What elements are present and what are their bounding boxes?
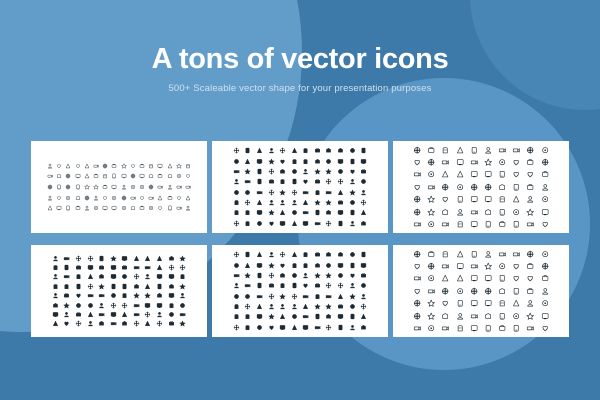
bag-icon[interactable]	[75, 255, 82, 262]
frame-icon[interactable]	[325, 272, 332, 279]
egg-icon[interactable]	[268, 313, 275, 320]
clock-alt-icon[interactable]	[130, 195, 136, 201]
gift-icon[interactable]	[349, 282, 356, 289]
paint-icon[interactable]	[325, 282, 332, 289]
music-icon[interactable]	[244, 262, 251, 269]
mail-icon[interactable]	[325, 313, 332, 320]
screen-icon[interactable]	[233, 220, 240, 227]
battery-icon[interactable]	[484, 195, 492, 203]
scanner-icon[interactable]	[427, 170, 435, 178]
person-icon[interactable]	[156, 264, 163, 271]
truck-icon[interactable]	[75, 273, 82, 280]
volume-down-icon[interactable]	[427, 195, 435, 203]
card-reader-icon[interactable]	[498, 208, 506, 216]
cloud-alt-icon[interactable]	[52, 320, 59, 327]
satellite-icon[interactable]	[427, 312, 435, 320]
pen-icon[interactable]	[427, 250, 435, 258]
camcorder-icon[interactable]	[470, 287, 478, 295]
briefcase-icon[interactable]	[56, 195, 62, 201]
wifi-icon[interactable]	[133, 255, 140, 262]
cap-icon[interactable]	[185, 184, 191, 190]
battery-icon[interactable]	[139, 173, 145, 179]
shield-icon[interactable]	[337, 303, 344, 310]
pin-icon[interactable]	[314, 178, 321, 185]
volume-up-icon[interactable]	[413, 195, 421, 203]
volume-up-icon[interactable]	[413, 299, 421, 307]
sofa-icon[interactable]	[337, 158, 344, 165]
printer-icon[interactable]	[233, 178, 240, 185]
cloud-alt-icon[interactable]	[47, 205, 53, 211]
window-icon[interactable]	[63, 264, 70, 271]
signal-icon[interactable]	[441, 195, 449, 203]
map-icon[interactable]	[167, 205, 173, 211]
scale-icon[interactable]	[102, 195, 108, 201]
monitor-alt-icon[interactable]	[470, 158, 478, 166]
bag-icon[interactable]	[279, 251, 286, 258]
disc-icon[interactable]	[168, 302, 175, 309]
glasses-icon[interactable]	[179, 264, 186, 271]
package-icon[interactable]	[349, 199, 356, 206]
pencil-icon[interactable]	[291, 220, 298, 227]
weight-icon[interactable]	[111, 195, 117, 201]
pot-icon[interactable]	[233, 313, 240, 320]
trophy-icon[interactable]	[47, 163, 53, 169]
cloud-icon[interactable]	[360, 158, 367, 165]
tablet-icon[interactable]	[133, 302, 140, 309]
plate-icon[interactable]	[337, 168, 344, 175]
glass-icon[interactable]	[291, 168, 298, 175]
cassette-icon[interactable]	[498, 170, 506, 178]
cross-icon[interactable]	[314, 313, 321, 320]
icon-panel-bottom-left[interactable]	[31, 245, 207, 337]
moon-icon[interactable]	[256, 199, 263, 206]
dash-icon[interactable]	[291, 313, 298, 320]
monitor-alt-icon[interactable]	[470, 262, 478, 270]
globe-icon[interactable]	[56, 173, 62, 179]
calculator-icon[interactable]	[244, 293, 251, 300]
shuffle-icon[interactable]	[111, 205, 117, 211]
award-icon[interactable]	[157, 163, 163, 169]
link-icon[interactable]	[168, 311, 175, 318]
antenna-alt-icon[interactable]	[441, 208, 449, 216]
leaf-icon[interactable]	[93, 163, 99, 169]
badge-icon[interactable]	[314, 147, 321, 154]
bird-icon[interactable]	[176, 163, 182, 169]
search-icon[interactable]	[279, 158, 286, 165]
thermometer-icon[interactable]	[156, 320, 163, 327]
phone-icon[interactable]	[498, 146, 506, 154]
flag-icon[interactable]	[360, 303, 367, 310]
router-icon[interactable]	[526, 158, 534, 166]
layers-icon[interactable]	[337, 220, 344, 227]
dish-icon[interactable]	[456, 312, 464, 320]
tool-icon[interactable]	[233, 262, 240, 269]
calculator-alt-icon[interactable]	[526, 220, 534, 228]
wheel-alt-icon[interactable]	[144, 292, 151, 299]
circle-icon[interactable]	[291, 199, 298, 206]
plant-alt-icon[interactable]	[168, 320, 175, 327]
tv-icon[interactable]	[441, 220, 449, 228]
dial-icon[interactable]	[512, 324, 520, 332]
clock-icon[interactable]	[441, 287, 449, 295]
grid-icon[interactable]	[98, 302, 105, 309]
book-icon[interactable]	[291, 251, 298, 258]
gear-icon[interactable]	[167, 173, 173, 179]
monitor-icon[interactable]	[179, 302, 186, 309]
keyboard-icon[interactable]	[456, 146, 464, 154]
signal-icon[interactable]	[441, 299, 449, 307]
hammer-icon[interactable]	[349, 168, 356, 175]
favorite-icon[interactable]	[121, 184, 127, 190]
lock-icon[interactable]	[144, 302, 151, 309]
settings-icon[interactable]	[102, 184, 108, 190]
badge-icon[interactable]	[314, 251, 321, 258]
arch-icon[interactable]	[176, 184, 182, 190]
tool-icon[interactable]	[75, 302, 82, 309]
cloud-icon[interactable]	[111, 184, 117, 190]
floppy-icon[interactable]	[512, 274, 520, 282]
brush-icon[interactable]	[47, 173, 53, 179]
bell-icon[interactable]	[244, 209, 251, 216]
down-icon[interactable]	[244, 303, 251, 310]
sync-icon[interactable]	[268, 158, 275, 165]
keyboard-icon[interactable]	[360, 313, 367, 320]
pen-icon[interactable]	[427, 146, 435, 154]
door-icon[interactable]	[314, 324, 321, 331]
medical-icon[interactable]	[302, 199, 309, 206]
balloon-icon[interactable]	[75, 264, 82, 271]
refresh-icon[interactable]	[256, 251, 263, 258]
chip-icon[interactable]	[526, 170, 534, 178]
plug-icon[interactable]	[302, 282, 309, 289]
brush-icon[interactable]	[302, 293, 309, 300]
pill-icon[interactable]	[325, 199, 332, 206]
shell-icon[interactable]	[87, 320, 94, 327]
clock-icon[interactable]	[130, 173, 136, 179]
bird-icon[interactable]	[244, 272, 251, 279]
hand-icon[interactable]	[63, 283, 70, 290]
volume-low-icon[interactable]	[526, 183, 534, 191]
monitor-icon[interactable]	[541, 250, 549, 258]
power-icon[interactable]	[484, 312, 492, 320]
bulb-icon[interactable]	[87, 264, 94, 271]
umbrella-icon[interactable]	[121, 273, 128, 280]
camera-icon[interactable]	[279, 293, 286, 300]
ribbon-icon[interactable]	[176, 195, 182, 201]
bulb-icon[interactable]	[256, 313, 263, 320]
frame-icon[interactable]	[526, 208, 534, 216]
recorder-icon[interactable]	[484, 287, 492, 295]
clock-icon[interactable]	[291, 189, 298, 196]
feather-icon[interactable]	[167, 163, 173, 169]
card-reader-icon[interactable]	[498, 312, 506, 320]
desktop-icon[interactable]	[441, 158, 449, 166]
sim-icon[interactable]	[541, 170, 549, 178]
key-alt-icon[interactable]	[52, 302, 59, 309]
eye-icon[interactable]	[98, 273, 105, 280]
glass-icon[interactable]	[291, 272, 298, 279]
box-icon[interactable]	[349, 293, 356, 300]
rack-icon[interactable]	[541, 312, 549, 320]
boat-icon[interactable]	[110, 283, 117, 290]
thumbs-up-icon[interactable]	[110, 264, 117, 271]
drop-icon[interactable]	[244, 220, 251, 227]
dish-icon[interactable]	[456, 208, 464, 216]
window-icon[interactable]	[291, 178, 298, 185]
clock-icon[interactable]	[110, 302, 117, 309]
hand-icon[interactable]	[185, 163, 191, 169]
heart-icon[interactable]	[65, 173, 71, 179]
satellite-icon[interactable]	[427, 208, 435, 216]
antenna-alt-icon[interactable]	[441, 312, 449, 320]
ladder-icon[interactable]	[157, 184, 163, 190]
ring-icon[interactable]	[63, 311, 70, 318]
joystick-icon[interactable]	[413, 220, 421, 228]
layers-icon[interactable]	[337, 324, 344, 331]
car-icon[interactable]	[121, 283, 128, 290]
leaf-icon[interactable]	[144, 264, 151, 271]
lamp-icon[interactable]	[427, 220, 435, 228]
archive-icon[interactable]	[498, 262, 506, 270]
hdd-icon[interactable]	[427, 183, 435, 191]
kite-icon[interactable]	[110, 273, 117, 280]
disc-icon[interactable]	[314, 293, 321, 300]
calculator-icon[interactable]	[244, 189, 251, 196]
bell-icon[interactable]	[148, 163, 154, 169]
tree-icon[interactable]	[75, 283, 82, 290]
calculator-alt-icon[interactable]	[526, 324, 534, 332]
server-icon[interactable]	[484, 262, 492, 270]
icon-panel-top-left[interactable]	[31, 141, 207, 233]
cable-icon[interactable]	[470, 220, 478, 228]
speaker-icon[interactable]	[470, 170, 478, 178]
drop-icon[interactable]	[244, 324, 251, 331]
medical-icon[interactable]	[302, 303, 309, 310]
network-icon[interactable]	[512, 208, 520, 216]
joystick-icon[interactable]	[413, 324, 421, 332]
bell-icon[interactable]	[244, 313, 251, 320]
card-icon[interactable]	[84, 195, 90, 201]
cart-icon[interactable]	[349, 209, 356, 216]
shell-icon[interactable]	[268, 303, 275, 310]
shuffle-icon[interactable]	[279, 324, 286, 331]
adapter-icon[interactable]	[498, 220, 506, 228]
lock-icon[interactable]	[75, 173, 81, 179]
projector-icon[interactable]	[413, 170, 421, 178]
list-icon[interactable]	[139, 195, 145, 201]
calendar-icon[interactable]	[337, 178, 344, 185]
bulb-icon[interactable]	[256, 209, 263, 216]
battery-icon[interactable]	[484, 299, 492, 307]
pencil-icon[interactable]	[185, 195, 191, 201]
antenna-icon[interactable]	[498, 195, 506, 203]
tv-icon[interactable]	[233, 168, 240, 175]
router-icon[interactable]	[526, 262, 534, 270]
chess-icon[interactable]	[176, 205, 182, 211]
fire-icon[interactable]	[139, 184, 145, 190]
brush-icon[interactable]	[302, 189, 309, 196]
bag-alt-icon[interactable]	[349, 324, 356, 331]
drive-icon[interactable]	[512, 262, 520, 270]
plant-icon[interactable]	[148, 173, 154, 179]
plus-icon[interactable]	[233, 189, 240, 196]
floppy-icon[interactable]	[512, 170, 520, 178]
pen-icon[interactable]	[268, 282, 275, 289]
cable-icon[interactable]	[470, 324, 478, 332]
tv-icon[interactable]	[441, 324, 449, 332]
camcorder-icon[interactable]	[470, 183, 478, 191]
card-icon[interactable]	[133, 320, 140, 327]
mug-icon[interactable]	[144, 320, 151, 327]
music-icon[interactable]	[244, 158, 251, 165]
bottle-icon[interactable]	[244, 251, 251, 258]
printer-icon[interactable]	[233, 282, 240, 289]
needle-icon[interactable]	[314, 158, 321, 165]
ladder-icon[interactable]	[256, 189, 263, 196]
anchor-icon[interactable]	[157, 173, 163, 179]
house-icon[interactable]	[87, 283, 94, 290]
flower-icon[interactable]	[121, 163, 127, 169]
podium-icon[interactable]	[75, 163, 81, 169]
frame-icon[interactable]	[63, 302, 70, 309]
apple-icon[interactable]	[256, 178, 263, 185]
picture-icon[interactable]	[63, 273, 70, 280]
keyboard-icon[interactable]	[456, 250, 464, 258]
music-icon[interactable]	[121, 311, 128, 318]
edit-icon[interactable]	[268, 147, 275, 154]
camera-icon[interactable]	[110, 255, 117, 262]
hammer-icon[interactable]	[349, 272, 356, 279]
pot-icon[interactable]	[52, 283, 59, 290]
tag-icon[interactable]	[65, 184, 71, 190]
candle-icon[interactable]	[279, 282, 286, 289]
leaf-icon[interactable]	[325, 189, 332, 196]
book-alt-icon[interactable]	[279, 168, 286, 175]
shopping-icon[interactable]	[256, 168, 263, 175]
widescreen-icon[interactable]	[456, 262, 464, 270]
chest-icon[interactable]	[133, 283, 140, 290]
disc-icon[interactable]	[314, 189, 321, 196]
book-alt-icon[interactable]	[279, 272, 286, 279]
printer-icon[interactable]	[484, 146, 492, 154]
clock-icon[interactable]	[441, 183, 449, 191]
flower-icon[interactable]	[314, 303, 321, 310]
widescreen-icon[interactable]	[456, 158, 464, 166]
bag-alt-icon[interactable]	[349, 220, 356, 227]
scissors-icon[interactable]	[121, 173, 127, 179]
wheel-icon[interactable]	[87, 273, 94, 280]
archive-icon[interactable]	[498, 158, 506, 166]
recorder-icon[interactable]	[484, 183, 492, 191]
laptop-icon[interactable]	[526, 146, 534, 154]
tablet-icon[interactable]	[512, 250, 520, 258]
trophy-icon[interactable]	[360, 189, 367, 196]
pen-icon[interactable]	[268, 178, 275, 185]
cassette-icon[interactable]	[498, 274, 506, 282]
frame-icon[interactable]	[526, 312, 534, 320]
fan-icon[interactable]	[498, 287, 506, 295]
arrow-left-icon[interactable]	[233, 303, 240, 310]
flower-icon[interactable]	[314, 199, 321, 206]
tag-icon[interactable]	[268, 272, 275, 279]
hanger-icon[interactable]	[325, 251, 332, 258]
tv-icon[interactable]	[233, 272, 240, 279]
dots-icon[interactable]	[360, 147, 367, 154]
monitor-icon[interactable]	[541, 146, 549, 154]
fan-icon[interactable]	[498, 183, 506, 191]
remote-icon[interactable]	[470, 250, 478, 258]
flame-icon[interactable]	[156, 255, 163, 262]
trash-icon[interactable]	[87, 302, 94, 309]
dialog-icon[interactable]	[325, 324, 332, 331]
moon-icon[interactable]	[256, 303, 263, 310]
disc-icon[interactable]	[456, 220, 464, 228]
grid-icon[interactable]	[84, 205, 90, 211]
calculator-icon[interactable]	[456, 287, 464, 295]
bus-icon[interactable]	[168, 264, 175, 271]
zoom-icon[interactable]	[302, 324, 309, 331]
gear-icon[interactable]	[337, 147, 344, 154]
key-icon[interactable]	[167, 195, 173, 201]
usb-icon[interactable]	[413, 287, 421, 295]
modem-icon[interactable]	[541, 158, 549, 166]
radio-icon[interactable]	[456, 274, 464, 282]
mug-icon[interactable]	[279, 313, 286, 320]
book-alt-icon[interactable]	[121, 320, 128, 327]
bomb-icon[interactable]	[157, 205, 163, 211]
lock-icon[interactable]	[256, 262, 263, 269]
cart-icon[interactable]	[349, 313, 356, 320]
cup-icon[interactable]	[302, 272, 309, 279]
flagpin-icon[interactable]	[360, 220, 367, 227]
scale-icon[interactable]	[268, 220, 275, 227]
pen-icon[interactable]	[63, 292, 70, 299]
wrench-icon[interactable]	[302, 158, 309, 165]
bluetooth-icon[interactable]	[470, 312, 478, 320]
power-icon[interactable]	[484, 208, 492, 216]
rack-icon[interactable]	[541, 208, 549, 216]
shirt-icon[interactable]	[325, 262, 332, 269]
tv-icon[interactable]	[179, 311, 186, 318]
modem-icon[interactable]	[541, 262, 549, 270]
syringe-icon[interactable]	[130, 205, 136, 211]
tool-icon[interactable]	[233, 158, 240, 165]
plant-icon[interactable]	[156, 292, 163, 299]
battery-icon[interactable]	[168, 273, 175, 280]
sun-icon[interactable]	[63, 255, 70, 262]
console-icon[interactable]	[484, 170, 492, 178]
bell-icon[interactable]	[52, 264, 59, 271]
map-pin-icon[interactable]	[144, 273, 151, 280]
lifebuoy-icon[interactable]	[52, 311, 59, 318]
shopping-icon[interactable]	[256, 272, 263, 279]
icon-panel-top-center[interactable]	[212, 141, 388, 233]
display-icon[interactable]	[413, 262, 421, 270]
cocktail-icon[interactable]	[56, 163, 62, 169]
phone-icon[interactable]	[498, 250, 506, 258]
keyboard-icon[interactable]	[360, 209, 367, 216]
antenna-icon[interactable]	[498, 299, 506, 307]
shield-icon[interactable]	[93, 173, 99, 179]
mouse-icon[interactable]	[441, 250, 449, 258]
wifi-icon[interactable]	[512, 299, 520, 307]
dots-icon[interactable]	[360, 251, 367, 258]
ring-icon[interactable]	[279, 303, 286, 310]
pencil-icon[interactable]	[87, 311, 94, 318]
sofa-icon[interactable]	[337, 262, 344, 269]
pin-icon[interactable]	[314, 282, 321, 289]
icon-panel-bottom-center[interactable]	[212, 245, 388, 337]
